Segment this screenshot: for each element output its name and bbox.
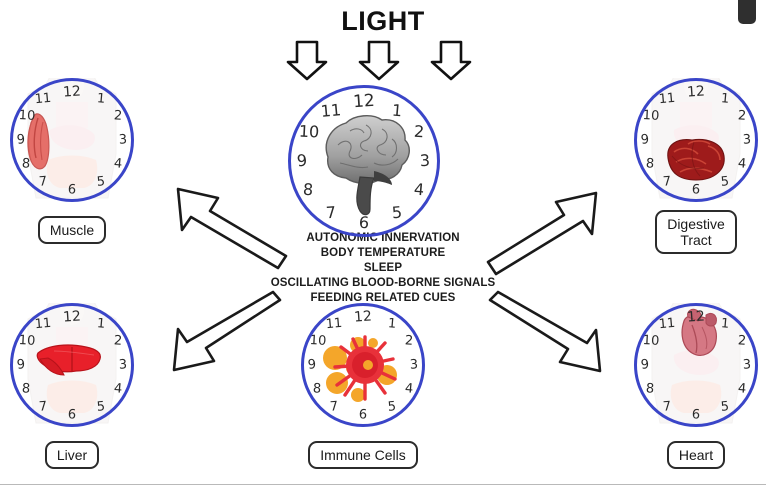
label-liver: Liver: [45, 441, 99, 469]
clock-face-liver: 12 1 2 3 4 5 6 7 8 9 10 11: [10, 303, 134, 427]
label-text-line2: Tract: [667, 232, 725, 248]
light-title: LIGHT: [0, 6, 766, 37]
label-muscle: Muscle: [38, 216, 106, 244]
bottom-divider: [0, 484, 766, 485]
circadian-rhythm-diagram: LIGHT: [0, 0, 766, 496]
label-text: Immune Cells: [320, 447, 406, 463]
signal-line: OSCILLATING BLOOD-BORNE SIGNALS: [233, 276, 533, 291]
label-text: Heart: [679, 447, 713, 463]
clock-face-immune-cells: 12 1 2 3 4 5 6 7 8 9 10 11: [301, 303, 425, 427]
arrow-to-muscle: [168, 178, 290, 262]
clock-ring: [634, 78, 758, 202]
master-clock-brain: 12 1 2 3 4 5 6 7 8 9 10 11: [288, 85, 440, 237]
clock-ring: [301, 303, 425, 427]
clock-face-digestive-tract: 12 1 2 3 4 5 6 7 8 9 10 11: [634, 78, 758, 202]
arrow-to-liver: [168, 296, 290, 380]
label-text: Liver: [57, 447, 87, 463]
label-text: Muscle: [50, 222, 94, 238]
label-text-line1: Digestive: [667, 216, 725, 232]
label-heart: Heart: [667, 441, 725, 469]
clock-face-brain: 12 1 2 3 4 5 6 7 8 9 10 11: [288, 85, 440, 237]
peripheral-clock-heart: 12 1 2 3 4 5 6 7 8 9 10 11 Heart: [634, 303, 758, 469]
peripheral-clock-immune-cells: 12 1 2 3 4 5 6 7 8 9 10 11 Immune Cells: [301, 303, 425, 469]
label-immune-cells: Immune Cells: [308, 441, 418, 469]
peripheral-clock-muscle: 12 1 2 3 4 5 6 7 8 9 10 11 Muscle: [10, 78, 134, 244]
arrow-to-digestive-tract: [484, 178, 606, 266]
clock-ring: [10, 78, 134, 202]
clock-ring: [288, 85, 440, 237]
peripheral-clock-liver: 12 1 2 3 4 5 6 7 8 9 10 11 Liver: [10, 303, 134, 469]
arrow-to-heart: [484, 296, 612, 384]
clock-ring: [634, 303, 758, 427]
peripheral-clock-digestive-tract: 12 1 2 3 4 5 6 7 8 9 10 11 Digestive Tra…: [634, 78, 758, 254]
label-digestive-tract: Digestive Tract: [655, 210, 737, 254]
clock-face-muscle: 12 1 2 3 4 5 6 7 8 9 10 11: [10, 78, 134, 202]
light-arrows-group: [283, 40, 483, 82]
clock-ring: [10, 303, 134, 427]
clock-face-heart: 12 1 2 3 4 5 6 7 8 9 10 11: [634, 303, 758, 427]
